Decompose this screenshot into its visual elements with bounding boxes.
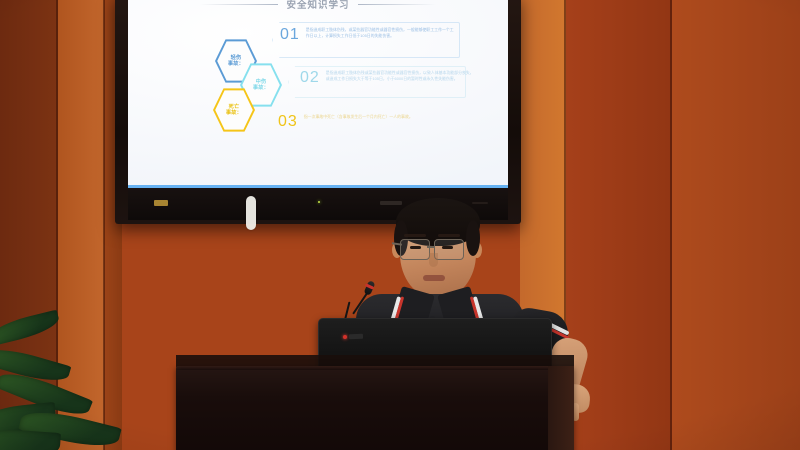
block-text-01: 是指造成职工肢体伤残，或某些器官功能性或器官性损伤，一般能够使职工工作一个工作日… (306, 27, 456, 39)
wooden-lectern (176, 370, 574, 450)
block-text-02: 是指造成职工肢体伤残或某些器官功能性或器官性损伤，以致人体基本功能部分丧失，或造… (326, 70, 476, 82)
title-rule-left (200, 4, 278, 5)
laptop-indicator-icon (343, 335, 347, 339)
mouth (423, 275, 445, 281)
wall-seam (670, 0, 672, 450)
wall-mounted-display[interactable]: 安全知识学习 轻伤 事故： 中伤 事故： 死亡 (115, 0, 521, 224)
laptop-logo (349, 334, 363, 339)
glasses-lens-right (434, 239, 464, 260)
glasses-lens-left (400, 239, 430, 260)
hexagon-label-line2: 事故： (228, 61, 244, 67)
presentation-slide: 安全知识学习 轻伤 事故： 中伤 事故： 死亡 (128, 0, 508, 188)
hexagon-label-line2: 事故： (253, 85, 269, 91)
hair-side-right (466, 220, 480, 256)
power-led-icon (318, 201, 320, 203)
eyebrow-right (438, 234, 460, 237)
display-brand-badge (154, 200, 168, 206)
paper-sheet (246, 196, 256, 230)
podium-right-side (548, 366, 574, 450)
eye-right (442, 246, 453, 249)
slide-block-01: 01 是指造成职工肢体伤残，或某些器官功能性或器官性损伤，一般能够使职工工作一个… (280, 27, 456, 42)
block-text-03: 指一次事故中死亡（含事故发生后一个月内死亡）一人的事故。 (304, 114, 424, 120)
slide-title: 安全知识学习 (286, 0, 349, 11)
nose (429, 253, 438, 267)
slide-block-03: 03 指一次事故中死亡（含事故发生后一个月内死亡）一人的事故。 (278, 114, 424, 129)
eye-left (410, 246, 421, 249)
block-number-01: 01 (280, 27, 300, 42)
wall-panel-6 (672, 0, 800, 450)
plant-leaf (0, 310, 61, 347)
potted-plant (0, 310, 146, 450)
slide-title-row: 安全知识学习 (128, 0, 508, 11)
hexagon-label-line2: 事故： (226, 110, 242, 116)
title-rule-right (358, 4, 436, 5)
glasses-bridge (427, 246, 435, 248)
block-number-02: 02 (300, 70, 320, 85)
conference-room-scene: 安全知识学习 轻伤 事故： 中伤 事故： 死亡 (0, 0, 800, 450)
block-number-03: 03 (278, 114, 298, 129)
eyebrow-left (404, 234, 426, 237)
slide-block-02: 02 是指造成职工肢体伤残或某些器官功能性或器官性损伤，以致人体基本功能部分丧失… (300, 70, 476, 85)
display-bezel-inner: 安全知识学习 轻伤 事故： 中伤 事故： 死亡 (128, 0, 508, 188)
